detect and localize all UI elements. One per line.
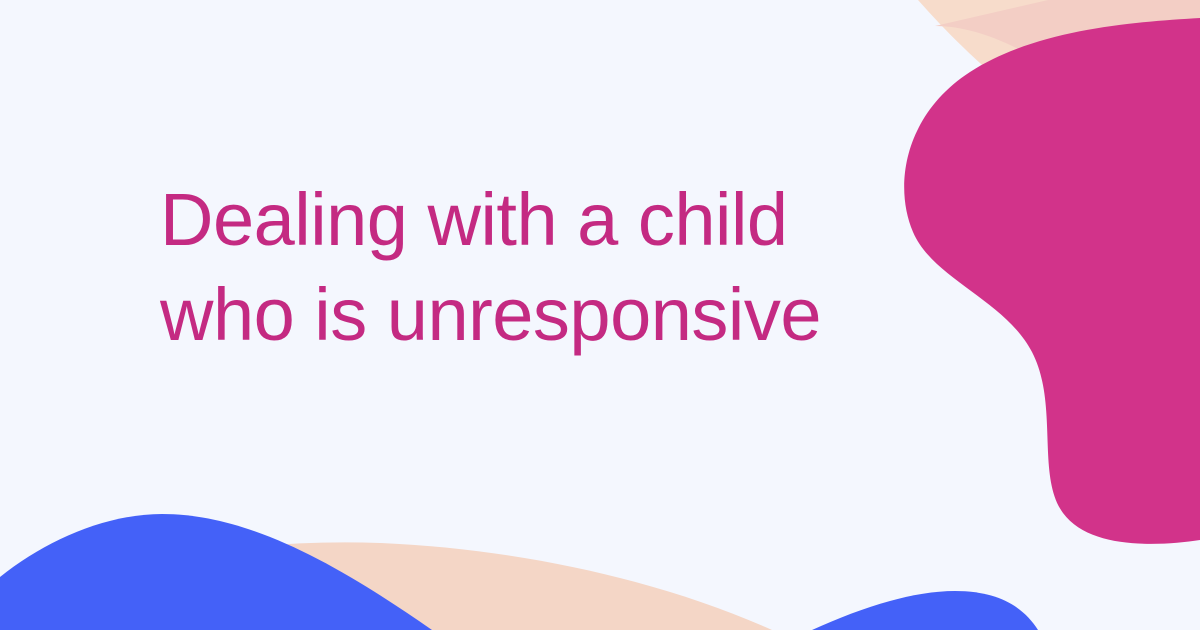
page-title: Dealing with a child who is unresponsive [160,172,920,362]
magenta-blob-right [904,18,1200,544]
blue-wave-bottom-right [812,591,1038,630]
headline-container: Dealing with a child who is unresponsive [160,172,920,362]
promo-banner: Dealing with a child who is unresponsive [0,0,1200,630]
